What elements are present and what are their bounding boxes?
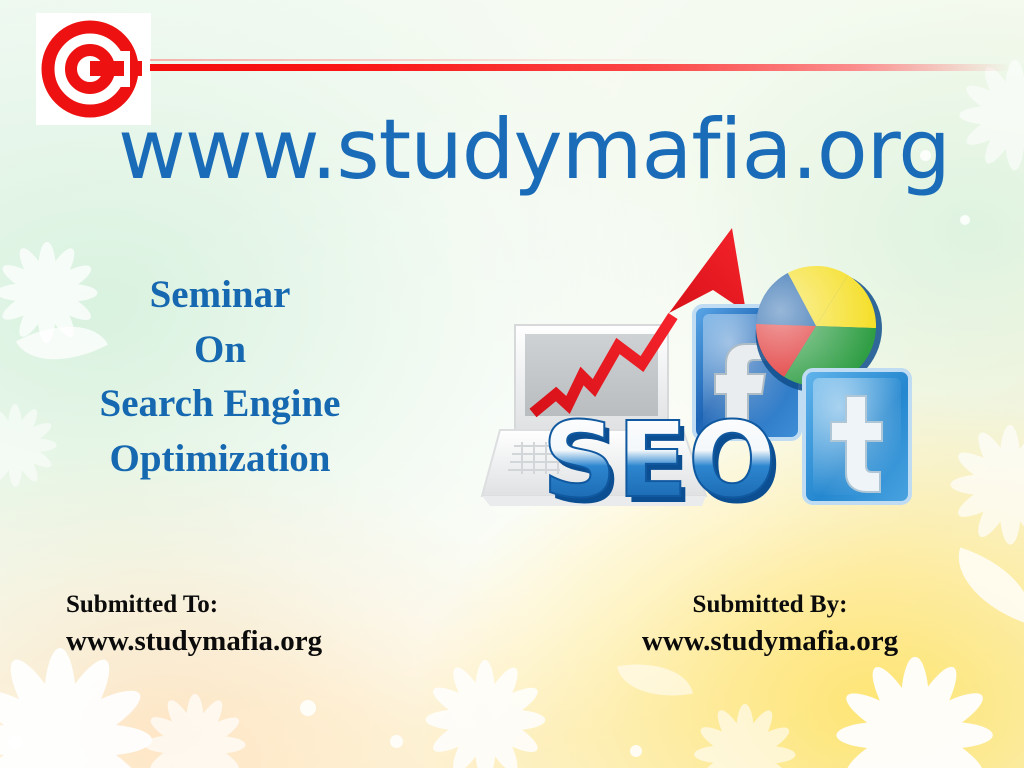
- seminar-title-block: Seminar On Search Engine Optimization: [50, 268, 390, 486]
- submitted-to-label: Submitted To:: [66, 588, 322, 622]
- flower-petal: [480, 711, 542, 759]
- flower-petal: [446, 715, 494, 768]
- flower-petal: [901, 657, 928, 735]
- svg-text:SEO: SEO: [542, 399, 776, 521]
- flower-petal: [46, 652, 120, 748]
- flower-petal: [1007, 62, 1024, 119]
- flower-petal: [14, 289, 55, 342]
- flower-petal: [962, 107, 1019, 151]
- flower-petal: [52, 726, 148, 768]
- flower-petal: [971, 428, 1019, 490]
- seo-3d-text: SEO SEO: [542, 399, 781, 527]
- flower-petal: [162, 697, 203, 750]
- flower-petal: [840, 684, 921, 747]
- submitted-by-value: www.studymafia.org: [570, 622, 970, 661]
- header-rule-highlight: [150, 59, 850, 61]
- flower-petal: [736, 704, 754, 755]
- flower-petal: [11, 439, 54, 472]
- flower-center: [5, 435, 25, 455]
- dot-decor-2: [390, 735, 403, 748]
- flower-decor-bottom-right-2: [690, 700, 800, 768]
- flower-petal: [46, 732, 120, 768]
- flower-petal: [0, 441, 21, 484]
- flower-petal: [0, 732, 74, 768]
- flower-petal: [864, 728, 927, 768]
- flower-decor-bottom-center: [420, 655, 550, 768]
- seminar-line-1: Seminar: [50, 268, 390, 323]
- flower-decor-bottom-right: [830, 650, 1000, 768]
- flower-petal: [0, 724, 60, 756]
- flower-petal: [14, 245, 55, 298]
- flower-center: [733, 743, 757, 767]
- flower-center: [896, 716, 933, 753]
- flower-petal: [485, 710, 545, 731]
- flower-petal: [903, 728, 966, 768]
- flower-petal: [1001, 428, 1024, 490]
- flower-petal: [0, 680, 68, 754]
- seo-illustration-graphic: SEO SEO: [470, 218, 920, 538]
- flower-petal: [162, 741, 203, 768]
- flower-petal: [915, 721, 993, 748]
- page-title: www.studymafia.org: [118, 108, 950, 191]
- flower-petal: [1010, 107, 1024, 151]
- flower-petal: [425, 710, 485, 731]
- flower-petal: [840, 723, 921, 768]
- flower-petal: [476, 715, 524, 768]
- flower-petal: [187, 741, 228, 768]
- flower-petal: [8, 404, 22, 445]
- flower-petal: [0, 439, 19, 472]
- flower-petal: [186, 745, 204, 768]
- flower-petal: [1015, 105, 1024, 124]
- flower-decor-top-right: [955, 55, 1024, 175]
- flower-petal: [697, 747, 750, 768]
- flower-petal: [144, 736, 195, 754]
- seminar-line-3: Search Engine: [50, 377, 390, 432]
- flower-petal: [0, 285, 51, 326]
- flower-petal: [1001, 480, 1024, 542]
- slide-root: www.studymafia.org Seminar On Search Eng…: [0, 0, 1024, 768]
- flower-petal: [480, 681, 542, 729]
- dot-decor-1: [300, 700, 316, 716]
- flower-petal: [191, 737, 244, 768]
- flower-petal: [0, 438, 15, 452]
- flower-petal: [446, 663, 494, 725]
- flower-petal: [903, 660, 966, 741]
- flower-petal: [147, 712, 200, 753]
- flower-petal: [1000, 425, 1021, 485]
- flower-petal: [979, 62, 1023, 119]
- flower-petal: [1005, 446, 1024, 494]
- flower-petal: [195, 736, 246, 754]
- flower-petal: [1005, 476, 1024, 524]
- flower-petal: [1010, 79, 1024, 123]
- flower-petal: [0, 652, 74, 748]
- flower-petal: [712, 751, 753, 768]
- flower-petal: [52, 680, 148, 754]
- flower-petal: [0, 260, 51, 301]
- flower-petal: [837, 721, 915, 748]
- flower-petal: [9, 406, 42, 449]
- flower-center: [996, 471, 1024, 500]
- flower-petal: [147, 737, 200, 768]
- flower-petal: [736, 755, 754, 768]
- dot-decor-6: [960, 215, 970, 225]
- flower-petal: [741, 747, 794, 768]
- flower-petal: [1010, 475, 1024, 496]
- flower-petal: [428, 681, 490, 729]
- flower-petal: [1000, 485, 1021, 545]
- flower-petal: [191, 712, 244, 753]
- header-rule: [150, 64, 1010, 71]
- flower-petal: [428, 711, 490, 759]
- flower-petal: [1005, 115, 1024, 170]
- flower-petal: [694, 746, 745, 764]
- leaf-decor-bottom: [617, 654, 693, 706]
- flower-petal: [476, 663, 524, 725]
- flower-petal: [186, 694, 204, 745]
- flower-petal: [60, 724, 152, 756]
- flower-petal: [901, 735, 928, 768]
- flower-petal: [1007, 110, 1024, 167]
- flower-petal: [0, 726, 68, 768]
- dot-decor-4: [630, 745, 642, 757]
- submitted-by-label: Submitted By:: [570, 588, 970, 622]
- flower-petal: [953, 446, 1015, 494]
- flower-petal: [741, 722, 794, 763]
- flower-petal: [950, 475, 1010, 496]
- submitted-to-value: www.studymafia.org: [66, 622, 322, 661]
- seminar-line-4: Optimization: [50, 432, 390, 487]
- flower-petal: [11, 418, 54, 451]
- flower-petal: [8, 445, 22, 486]
- flower-petal: [0, 418, 19, 451]
- submitted-to-block: Submitted To: www.studymafia.org: [66, 588, 322, 661]
- flower-petal: [971, 480, 1019, 542]
- flower-petal: [737, 751, 778, 768]
- flower-decor-bottom-left-2: [140, 690, 250, 768]
- flower-petal: [712, 707, 753, 760]
- flower-center: [183, 733, 207, 757]
- flower-petal: [908, 684, 989, 747]
- flower-petal: [0, 284, 47, 302]
- flower-petal: [44, 648, 76, 740]
- flower-petal: [979, 110, 1023, 167]
- flower-petal: [697, 722, 750, 763]
- flower-petal: [960, 105, 1015, 124]
- flower-petal: [44, 740, 76, 768]
- flower-petal: [962, 79, 1019, 123]
- submitted-by-block: Submitted By: www.studymafia.org: [570, 588, 970, 661]
- flower-petal: [475, 660, 496, 720]
- flower-petal: [908, 723, 989, 768]
- flower-center: [471, 706, 500, 735]
- flower-petal: [745, 746, 796, 764]
- flower-petal: [0, 406, 21, 449]
- flower-center: [38, 718, 82, 762]
- flower-decor-mid-right: [945, 420, 1024, 550]
- flower-petal: [475, 720, 496, 768]
- seminar-line-2: On: [50, 323, 390, 378]
- flower-petal: [737, 707, 778, 760]
- flower-petal: [953, 476, 1015, 524]
- seo-illustration: SEO SEO: [470, 218, 920, 538]
- dot-decor-3: [8, 735, 22, 749]
- flower-petal: [187, 697, 228, 750]
- twitter-icon: [804, 370, 910, 503]
- flower-petal: [864, 660, 927, 741]
- flower-center: [1002, 102, 1024, 128]
- flower-petal: [9, 441, 42, 484]
